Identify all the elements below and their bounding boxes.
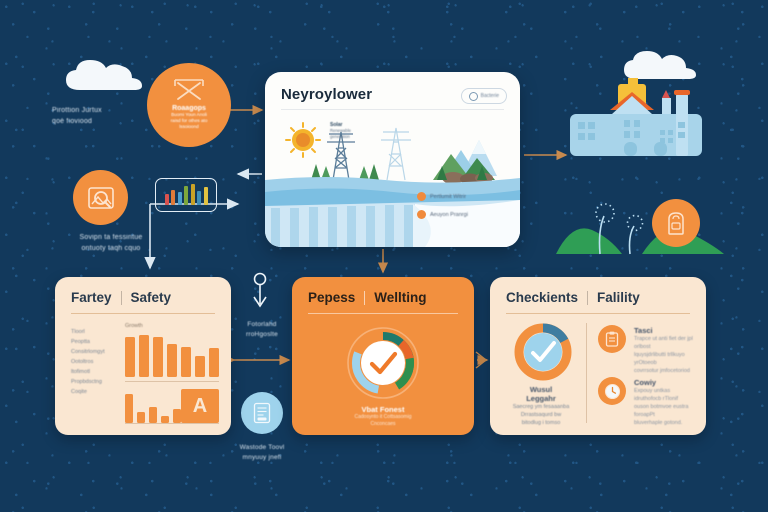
list-item[interactable]: Cowiy Expouy untkas idruthofocb rTlonif … — [598, 377, 698, 427]
bar — [167, 344, 177, 377]
hero-pill-label: Bacterie — [481, 93, 499, 99]
list-item-line-3: bluverhaple gotond. — [634, 419, 698, 427]
transmission-tower-icon — [381, 128, 411, 180]
sun-icon — [286, 123, 320, 157]
panel-checklist-column-divider — [586, 323, 587, 423]
thumbnail-bar — [197, 191, 201, 205]
tools-circle-icon[interactable]: Roaagops Buomi Youn Anoli raisd for othe… — [147, 63, 231, 147]
down-arrow-label-line-2: rroHgoslte — [232, 330, 292, 340]
bar — [149, 407, 157, 423]
hero-sun-label-sub-2: generation — [330, 134, 351, 140]
list-item: ltofimotl — [71, 367, 121, 377]
panel-progress[interactable]: Pepess Wellting Vbat Fonest Cadosynto it… — [292, 277, 474, 435]
list-item-line-2: lquysjdrlibutti trllkuyo yrOtoeob — [634, 351, 698, 367]
title-separator — [364, 291, 365, 305]
hero-legend-label-0: Pertlumit Witrir — [430, 194, 466, 200]
backpack-glyph-icon — [665, 210, 687, 236]
panel-progress-caption-main: Vbat Fonest — [292, 405, 474, 414]
list-item[interactable]: Tasci Trapce ut anti fiet der jpl orlbos… — [598, 325, 698, 375]
search-caption: Sovipn ta fessintue ontuoty taqh cquo — [56, 232, 166, 254]
list-item: Tloorl — [71, 327, 121, 337]
hero-legend-item-0: Pertlumit Witrir — [417, 192, 466, 201]
thumbnail-bar — [178, 192, 182, 205]
title-separator — [121, 291, 122, 305]
panel-checklist-caption-sub-2: Drrastsaqurd bw — [496, 411, 586, 419]
panel-progress-caption-sub-2: Cnconcaes — [292, 421, 474, 428]
panel-progress-caption: Vbat Fonest Cadosynto it Cottsasomig Cnc… — [292, 405, 474, 428]
hero-title: Neyroylower — [281, 86, 372, 103]
tools-badge-title: Roaagops — [172, 105, 206, 112]
panel-safety[interactable]: Fartey Safety TloorlPeopttaConsitrlomgyt… — [55, 277, 231, 435]
hero-legend-label-1: Aeuyon Pranrgi — [430, 212, 468, 218]
panel-checklist-caption-2: Leggahr — [496, 394, 586, 403]
panel-safety-title: Fartey Safety — [71, 290, 171, 305]
hero-legend-item-1: Aeuyon Pranrgi — [417, 210, 468, 219]
bolt-circle-icon — [417, 192, 426, 201]
panel-safety-list: TloorlPeopttaConsitrlomgytOotoltrosltofi… — [71, 327, 121, 397]
hydropower-illustration — [265, 114, 520, 247]
form-glyph-icon — [252, 402, 272, 424]
down-arrow-label: Fotorlahd rroHgoslte — [232, 320, 292, 340]
list-item: Consitrlomgyt — [71, 347, 121, 357]
bar — [181, 347, 191, 377]
cloud-caption-line-1: Pirottion Jurtux — [52, 105, 162, 116]
list-item-line-1: Expouy untkas idruthofocb rTlonif — [634, 387, 698, 403]
form-circle-icon[interactable] — [241, 392, 283, 434]
panel-safety-title-right: Safety — [131, 290, 172, 305]
bar — [173, 409, 181, 423]
thumbnail-bar — [171, 190, 175, 205]
list-item-heading: Tasci — [634, 326, 698, 335]
clock-glyph-icon — [604, 383, 621, 400]
city-buildings-icon — [566, 78, 706, 162]
down-arrow-pin-icon — [248, 272, 272, 308]
title-separator — [587, 291, 588, 305]
cloud-icon — [62, 56, 146, 96]
info-circle-icon — [469, 92, 478, 101]
form-node-label-line-2: mnyuuy jnefi — [216, 453, 308, 463]
panel-progress-title-right: Wellting — [374, 290, 426, 305]
hero-divider — [281, 109, 504, 110]
hero-sun-label: Solar Renewable generation — [330, 122, 351, 139]
panel-safety-letter-block: A — [181, 389, 219, 423]
list-item-line-1: Trapce ut anti fiet der jpl orlbost — [634, 335, 698, 351]
panel-checklist-donut-caption: Wusul Leggahr Saecreg ym fesaaanba Drras… — [496, 385, 586, 427]
panel-safety-chart-label: Growth — [125, 323, 143, 329]
panel-progress-title: Pepess Wellting — [308, 290, 427, 305]
panel-checklist-title-left: Checkients — [506, 290, 578, 305]
panel-checklist-caption-1: Wusul — [496, 385, 586, 394]
crossed-tools-icon — [172, 77, 206, 103]
thumbnail-bar — [184, 186, 188, 205]
search-image-circle-icon[interactable] — [73, 170, 128, 225]
bar-chart-thumbnail[interactable] — [155, 178, 217, 212]
list-item-line-2: ouson botmvoe eustra foroapPt — [634, 403, 698, 419]
infographic-canvas: Pirottion Jurtux qoé fioviood Roaagops B… — [0, 0, 768, 512]
list-item-heading: Cowiy — [634, 378, 698, 387]
panel-safety-axis-top — [125, 381, 219, 382]
panel-safety-axis-bottom — [125, 423, 219, 424]
list-item: Coqite — [71, 387, 121, 397]
thumbnail-bar — [204, 187, 208, 205]
cloud-caption-line-2: qoé fioviood — [52, 116, 162, 127]
panel-progress-donut[interactable] — [345, 325, 421, 401]
tools-badge-sub-3: lssoioond — [179, 124, 198, 130]
hero-card[interactable]: Neyroylower Bacterie — [265, 72, 520, 247]
panel-checklist-title-right: Falility — [597, 290, 640, 305]
panel-safety-divider — [71, 313, 215, 314]
bar — [125, 337, 135, 377]
form-node-label: Wastode Toovl mnyuuy jnefi — [216, 443, 308, 463]
panel-checklist-caption-sub-3: bitodlug i tomso — [496, 419, 586, 427]
panel-checklist-caption-sub-1: Saecreg ym fesaaanba — [496, 403, 586, 411]
list-item: Peoptta — [71, 337, 121, 347]
panel-checklist-title: Checkients Falility — [506, 290, 640, 305]
bar — [153, 337, 163, 377]
bar — [209, 348, 219, 377]
panel-progress-caption-sub-1: Cadosynto it Cottsasomig — [292, 414, 474, 421]
panel-checklist[interactable]: Checkients Falility Wusul Leggahr Saecre… — [490, 277, 706, 435]
clock-circle-icon — [598, 377, 626, 405]
clipboard-glyph-icon — [605, 331, 619, 347]
form-node-label-line-1: Wastode Toovl — [216, 443, 308, 453]
clipboard-circle-icon — [598, 325, 626, 353]
image-magnifier-icon — [86, 185, 116, 211]
bar — [139, 335, 149, 377]
search-caption-line-2: ontuoty taqh cquo — [56, 243, 166, 254]
cloud-caption: Pirottion Jurtux qoé fioviood — [52, 105, 162, 127]
panel-checklist-divider — [506, 313, 690, 314]
panel-checklist-donut[interactable] — [514, 323, 572, 381]
bar — [137, 412, 145, 423]
leaf-circle-icon — [417, 210, 426, 219]
panel-safety-bar-row-top[interactable] — [125, 333, 219, 377]
search-caption-line-1: Sovipn ta fessintue — [56, 232, 166, 243]
down-arrow-label-line-1: Fotorlahd — [232, 320, 292, 330]
list-item: Ootoltros — [71, 357, 121, 367]
thumbnail-bar — [191, 184, 195, 205]
list-item-line-3: covrrsotur jmfocetoriod — [634, 367, 698, 375]
panel-safety-title-left: Fartey — [71, 290, 112, 305]
list-item: Propbdsctng — [71, 377, 121, 387]
bar — [161, 416, 169, 423]
panel-progress-title-left: Pepess — [308, 290, 355, 305]
bar — [125, 394, 133, 423]
hero-pill-button[interactable]: Bacterie — [461, 88, 507, 104]
bar — [195, 356, 205, 377]
panel-progress-divider — [308, 313, 458, 314]
thumbnail-bar — [165, 194, 169, 205]
backpack-circle-icon[interactable] — [652, 199, 700, 247]
pylon-icon — [327, 132, 355, 180]
